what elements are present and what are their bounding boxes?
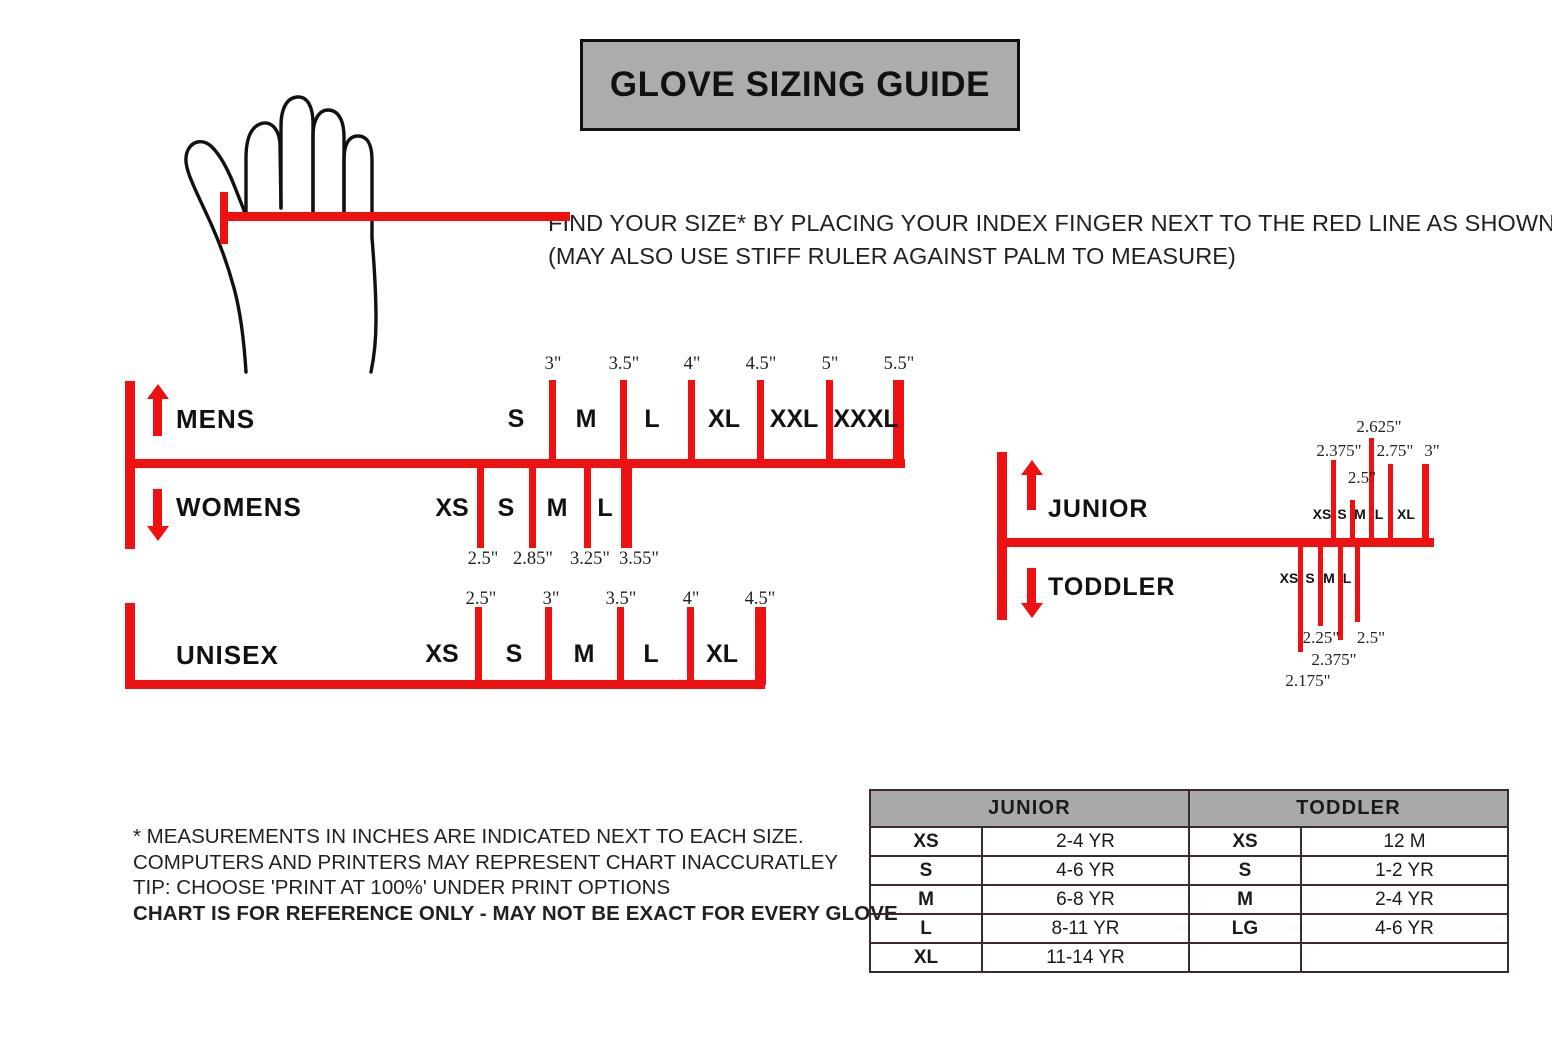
mens-meas-4: 5" — [822, 354, 839, 375]
footnote-line-3: TIP: CHOOSE 'PRINT AT 100%' UNDER PRINT … — [133, 875, 833, 901]
toddler-tick-2_5in — [1355, 544, 1360, 622]
footnote-block: * MEASUREMENTS IN INCHES ARE INDICATED N… — [133, 824, 833, 926]
womens-meas-2: 3.25" — [570, 549, 610, 570]
womens-tick-2_85in — [529, 466, 536, 548]
row-label-unisex: UNISEX — [176, 640, 279, 671]
junior-meas-0: 2.375" — [1316, 441, 1361, 461]
mens-meas-5: 5.5" — [884, 354, 915, 375]
glove-sizing-guide-page: GLOVE SIZING GUIDE FIND YOUR SIZE* BY PL… — [0, 0, 1552, 1059]
page-title: GLOVE SIZING GUIDE — [610, 65, 990, 105]
mens-size-0: S — [508, 405, 525, 434]
toddler-arrow-down-icon — [1027, 568, 1036, 604]
toddler-code-2: M — [1189, 885, 1301, 914]
womens-meas-0: 2.5" — [468, 549, 499, 570]
junior-age-1: 4-6 YR — [982, 856, 1189, 885]
toddler-age-3: 4-6 YR — [1301, 914, 1508, 943]
womens-size-0: XS — [435, 494, 468, 523]
unisex-meas-2: 3.5" — [606, 589, 637, 610]
unisex-meas-3: 4" — [683, 589, 700, 610]
junior-meas-3: 2.75" — [1377, 441, 1414, 461]
junior-age-4: 11-14 YR — [982, 943, 1189, 972]
womens-meas-1: 2.85" — [513, 549, 553, 570]
row-label-mens: MENS — [176, 404, 255, 435]
toddler-age-1: 1-2 YR — [1301, 856, 1508, 885]
mens-tick-5in — [826, 380, 833, 462]
junior-age-2: 6-8 YR — [982, 885, 1189, 914]
instructions-text: FIND YOUR SIZE* BY PLACING YOUR INDEX FI… — [548, 207, 1508, 273]
junior-meas-1: 2.5" — [1348, 468, 1376, 488]
toddler-code-4 — [1189, 943, 1301, 972]
unisex-tick-4_5in — [755, 607, 766, 685]
toddler-size-2: M — [1323, 570, 1335, 586]
mens-tick-3in — [549, 380, 556, 462]
junior-size-0: XS — [1313, 506, 1332, 522]
unisex-size-2: M — [574, 640, 595, 669]
mens-size-3: XL — [708, 405, 740, 434]
instruction-line-2: (MAY ALSO USE STIFF RULER AGAINST PALM T… — [548, 240, 1508, 273]
mens-arrow-up-icon — [153, 398, 162, 436]
mens-tick-3_5in — [620, 380, 627, 462]
table-header-row: JUNIOR TODDLER — [870, 790, 1508, 827]
junior-code-2: M — [870, 885, 982, 914]
footnote-line-1: * MEASUREMENTS IN INCHES ARE INDICATED N… — [133, 824, 833, 850]
unisex-tick-4in — [687, 607, 694, 685]
footnote-line-2: COMPUTERS AND PRINTERS MAY REPRESENT CHA… — [133, 850, 833, 876]
row-label-womens: WOMENS — [176, 492, 302, 523]
toddler-code-1: S — [1189, 856, 1301, 885]
junior-size-4: XL — [1397, 506, 1415, 522]
toddler-age-0: 12 M — [1301, 827, 1508, 856]
toddler-size-1: S — [1305, 570, 1314, 586]
mens-meas-2: 4" — [684, 354, 701, 375]
womens-size-1: S — [498, 494, 515, 523]
womens-size-3: L — [597, 494, 612, 523]
junior-toddler-axis-endbar — [997, 452, 1007, 620]
table-row: XS 2-4 YR XS 12 M — [870, 827, 1508, 856]
unisex-size-0: XS — [425, 640, 458, 669]
unisex-meas-0: 2.5" — [466, 589, 497, 610]
row-label-junior: JUNIOR — [1048, 495, 1148, 524]
mens-size-4: XXL — [770, 405, 819, 434]
mens-size-1: M — [576, 405, 597, 434]
unisex-size-3: L — [643, 640, 658, 669]
hand-outline-icon — [150, 40, 570, 410]
womens-tick-3_55in — [621, 466, 632, 548]
junior-age-0: 2-4 YR — [982, 827, 1189, 856]
title-banner: GLOVE SIZING GUIDE — [580, 39, 1020, 131]
junior-code-0: XS — [870, 827, 982, 856]
table-header-junior: JUNIOR — [870, 790, 1189, 827]
womens-meas-3: 3.55" — [619, 549, 659, 570]
womens-tick-2_5in — [477, 466, 484, 548]
table-row: XL 11-14 YR — [870, 943, 1508, 972]
womens-arrow-down-icon — [153, 489, 162, 527]
table-row: M 6-8 YR M 2-4 YR — [870, 885, 1508, 914]
mens-womens-axis — [125, 459, 905, 468]
unisex-tick-3_5in — [617, 607, 624, 685]
junior-tick-2_75in — [1388, 464, 1393, 542]
junior-tick-3in — [1422, 464, 1429, 542]
junior-code-3: L — [870, 914, 982, 943]
toddler-tick-2_375in — [1338, 544, 1343, 640]
unisex-meas-4: 4.5" — [745, 589, 776, 610]
toddler-age-4 — [1301, 943, 1508, 972]
unisex-tick-2_5in — [475, 607, 482, 685]
toddler-size-3: L — [1343, 570, 1352, 586]
junior-size-1: S — [1337, 506, 1346, 522]
junior-tick-2_375in — [1331, 460, 1336, 542]
toddler-meas-0: 2.175" — [1285, 671, 1330, 691]
mens-tick-4_5in — [757, 380, 764, 462]
hand-illustration — [150, 40, 570, 410]
junior-size-2: M — [1354, 506, 1366, 522]
mens-size-5: XXXL — [833, 405, 898, 434]
toddler-age-2: 2-4 YR — [1301, 885, 1508, 914]
mens-size-2: L — [644, 405, 659, 434]
junior-arrow-up-icon — [1027, 474, 1036, 510]
mens-meas-1: 3.5" — [609, 354, 640, 375]
footnote-line-4: CHART IS FOR REFERENCE ONLY - MAY NOT BE… — [133, 901, 833, 927]
junior-age-3: 8-11 YR — [982, 914, 1189, 943]
table-row: S 4-6 YR S 1-2 YR — [870, 856, 1508, 885]
unisex-tick-3in — [545, 607, 552, 685]
junior-code-4: XL — [870, 943, 982, 972]
unisex-axis — [125, 680, 765, 689]
mens-meas-3: 4.5" — [746, 354, 777, 375]
unisex-meas-1: 3" — [543, 589, 560, 610]
toddler-meas-1: 2.25" — [1303, 628, 1340, 648]
toddler-size-0: XS — [1280, 570, 1299, 586]
measure-line-horizontal — [220, 212, 570, 221]
unisex-size-4: XL — [706, 640, 738, 669]
toddler-meas-3: 2.5" — [1357, 628, 1385, 648]
toddler-code-0: XS — [1189, 827, 1301, 856]
junior-meas-4: 3" — [1424, 441, 1439, 461]
mens-tick-4in — [688, 380, 695, 462]
table-row: L 8-11 YR LG 4-6 YR — [870, 914, 1508, 943]
unisex-size-1: S — [506, 640, 523, 669]
instruction-line-1: FIND YOUR SIZE* BY PLACING YOUR INDEX FI… — [548, 207, 1508, 240]
toddler-meas-2: 2.375" — [1311, 650, 1356, 670]
junior-size-3: L — [1375, 506, 1384, 522]
unisex-axis-endbar — [125, 603, 135, 689]
toddler-code-3: LG — [1189, 914, 1301, 943]
womens-tick-3_25in — [584, 466, 591, 548]
age-reference-table: JUNIOR TODDLER XS 2-4 YR XS 12 M S 4-6 Y… — [869, 789, 1509, 973]
womens-size-2: M — [547, 494, 568, 523]
mens-meas-0: 3" — [545, 354, 562, 375]
row-label-toddler: TODDLER — [1048, 573, 1175, 602]
junior-code-1: S — [870, 856, 982, 885]
junior-tick-2_625in — [1369, 438, 1374, 542]
junior-meas-2: 2.625" — [1356, 417, 1401, 437]
table-header-toddler: TODDLER — [1189, 790, 1508, 827]
